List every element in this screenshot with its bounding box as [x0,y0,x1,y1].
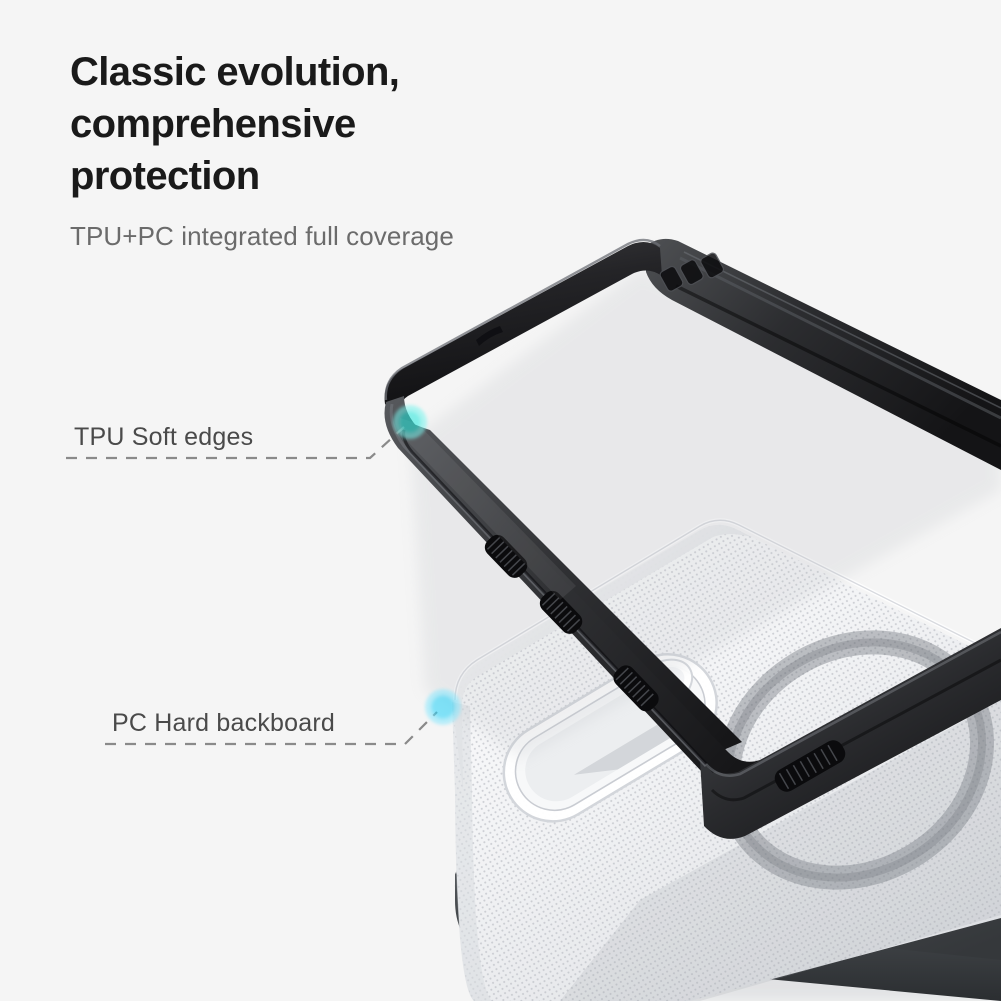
callout-dot-core [432,696,454,718]
page-title: Classic evolution, comprehensive protect… [70,46,630,202]
headline-line-2: comprehensive [70,98,630,150]
headline-line-3: protection [70,150,630,202]
headline-line-1: Classic evolution, [70,46,630,98]
page-subtitle: TPU+PC integrated full coverage [70,221,454,252]
callout-dot-pc [425,689,461,725]
callout-dot-core [400,412,420,432]
product-feature-banner: Classic evolution, comprehensive protect… [0,0,1001,1001]
callout-label-pc-hard-backboard: PC Hard backboard [112,709,335,738]
callout-label-tpu-soft-edges: TPU Soft edges [74,423,253,452]
callout-dot-tpu [393,405,427,439]
